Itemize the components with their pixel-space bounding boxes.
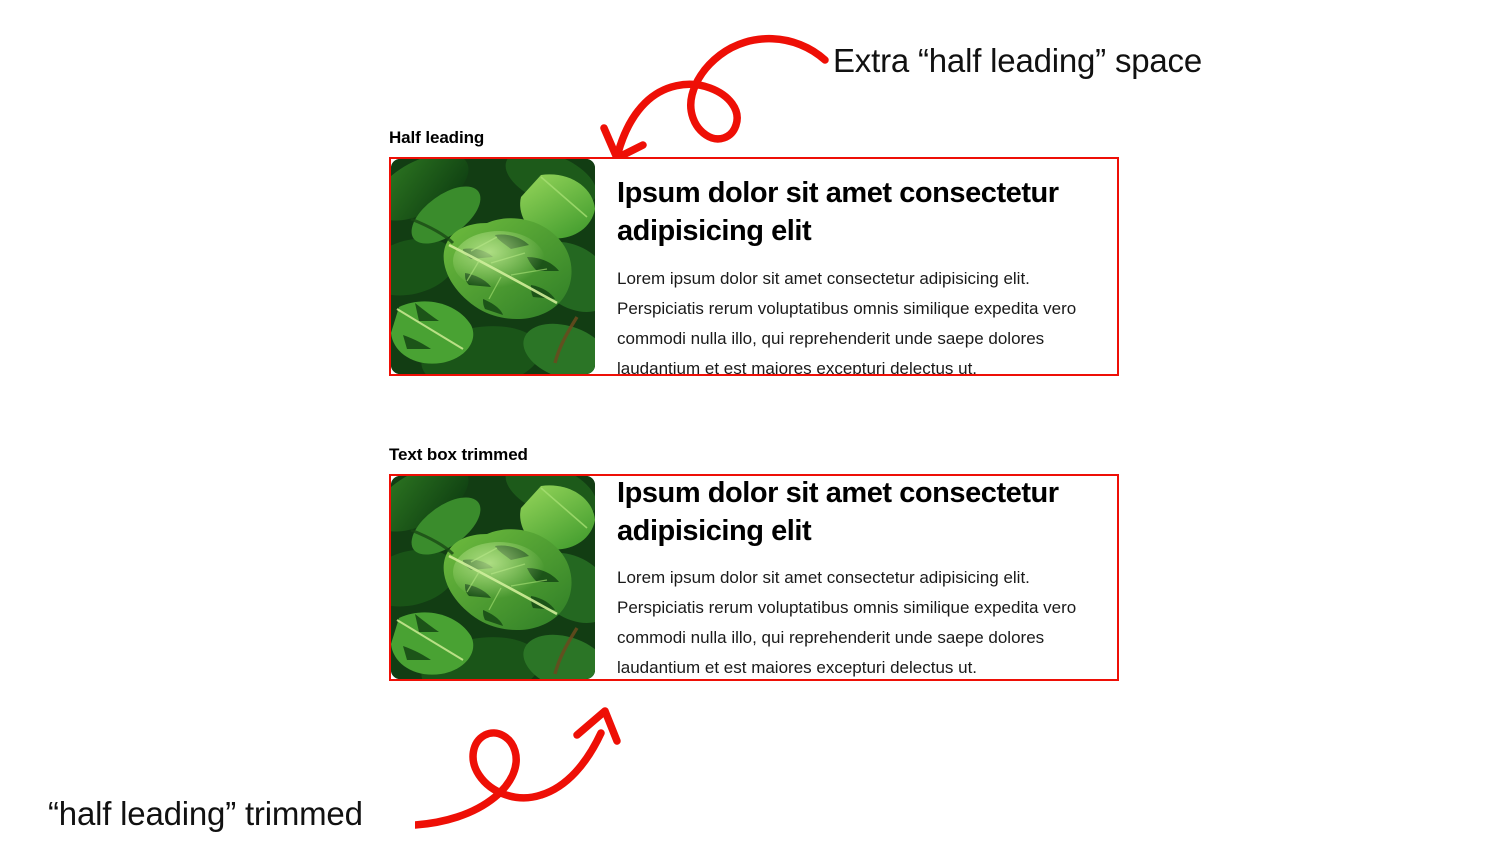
section-text-box-trimmed: Text box trimmed [389,445,1119,681]
card-heading: Ipsum dolor sit amet consectetur adipisi… [617,174,1103,250]
card-half-leading: Ipsum dolor sit amet consectetur adipisi… [389,157,1119,376]
card-text-box-trimmed: Ipsum dolor sit amet consectetur adipisi… [389,474,1119,681]
card-body-text: Lorem ipsum dolor sit amet consectetur a… [617,563,1103,681]
card-text-column-half: Ipsum dolor sit amet consectetur adipisi… [595,159,1117,376]
monstera-leaves-photo [391,476,595,679]
section-label-half-leading: Half leading [389,128,1119,148]
annotation-bottom-label: “half leading” trimmed [48,797,363,830]
monstera-leaves-photo [391,159,595,374]
card-body-text: Lorem ipsum dolor sit amet consectetur a… [617,264,1103,376]
section-half-leading: Half leading [389,128,1119,376]
card-text-column-trimmed: Ipsum dolor sit amet consectetur adipisi… [595,476,1117,681]
curly-arrow-up-right-icon [415,685,655,830]
card-heading: Ipsum dolor sit amet consectetur adipisi… [617,474,1103,550]
section-label-text-box-trimmed: Text box trimmed [389,445,1119,465]
annotation-top-label: Extra “half leading” space [833,44,1202,77]
illustration-canvas: Extra “half leading” space Half leading [0,0,1507,863]
